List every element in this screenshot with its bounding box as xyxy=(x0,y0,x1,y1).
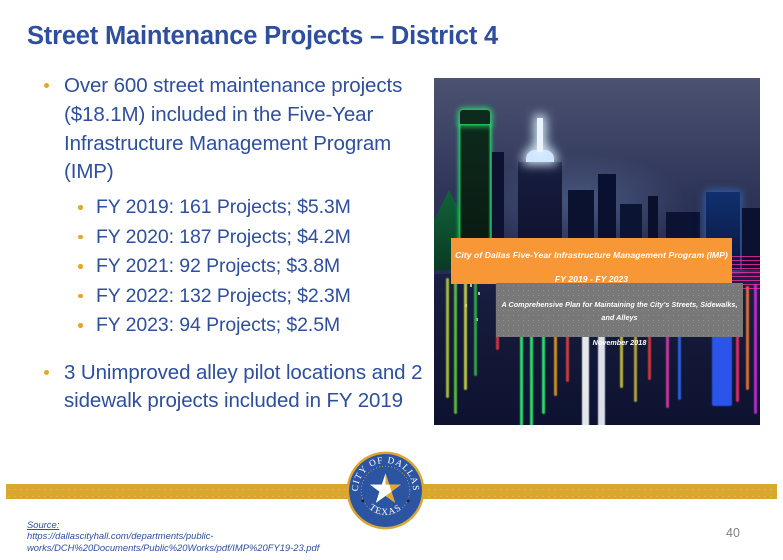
window-light xyxy=(478,292,480,295)
list-item: FY 2020: 187 Projects; $4.2M xyxy=(34,223,429,253)
gray-banner-line2: November 2018 xyxy=(496,336,743,349)
orange-caption-banner: City of Dallas Five-Year Infrastructure … xyxy=(451,238,732,284)
bullet-dot-icon xyxy=(78,235,83,240)
fiscal-year-text: FY 2021: 92 Projects; $3.8M xyxy=(96,255,340,277)
bullet-dot-icon xyxy=(44,83,49,88)
source-label: Source: xyxy=(27,519,59,530)
fiscal-year-text: FY 2019: 161 Projects; $5.3M xyxy=(96,196,351,218)
reflection-streak xyxy=(754,284,757,414)
source-note: Source: https://dallascityhall.com/depar… xyxy=(27,519,407,553)
bullet-dot-icon xyxy=(44,370,49,375)
building-bofa-crown xyxy=(460,110,490,124)
list-item: FY 2019: 161 Projects; $5.3M xyxy=(34,193,429,223)
source-url[interactable]: https://dallascityhall.com/departments/p… xyxy=(27,530,407,553)
gray-banner-line1: A Comprehensive Plan for Maintaining the… xyxy=(496,298,743,324)
bullet-item-intro: Over 600 street maintenance projects ($1… xyxy=(34,72,429,187)
fiscal-year-text: FY 2020: 187 Projects; $4.2M xyxy=(96,226,351,248)
slide-canvas: Street Maintenance Projects – District 4… xyxy=(0,0,783,560)
page-number: 40 xyxy=(726,526,740,540)
bullet-dot-icon xyxy=(78,205,83,210)
fiscal-year-list: FY 2019: 161 Projects; $5.3M FY 2020: 18… xyxy=(34,193,429,341)
list-item: FY 2023: 94 Projects; $2.5M xyxy=(34,311,429,341)
bullet-dot-icon xyxy=(78,323,83,328)
fiscal-year-text: FY 2022: 132 Projects; $2.3M xyxy=(96,285,351,307)
gray-caption-banner: A Comprehensive Plan for Maintaining the… xyxy=(496,283,743,337)
page-title: Street Maintenance Projects – District 4 xyxy=(27,22,727,51)
orange-banner-line1: City of Dallas Five-Year Infrastructure … xyxy=(451,248,732,263)
body-content: Over 600 street maintenance projects ($1… xyxy=(34,72,429,416)
reflection-streak xyxy=(454,278,457,414)
reflection-streak xyxy=(464,278,467,390)
list-item: FY 2022: 132 Projects; $2.3M xyxy=(34,282,429,312)
bullet-dot-icon xyxy=(78,294,83,299)
bullet-intro-text: Over 600 street maintenance projects ($1… xyxy=(64,74,402,183)
bullet-item-alley: 3 Unimproved alley pilot locations and 2… xyxy=(34,359,429,417)
bullet-alley-text: 3 Unimproved alley pilot locations and 2… xyxy=(64,361,422,413)
bullet-dot-icon xyxy=(78,264,83,269)
list-item: FY 2021: 92 Projects; $3.8M xyxy=(34,252,429,282)
reflection-streak xyxy=(446,278,449,398)
reflection-streak xyxy=(746,286,749,390)
fiscal-year-text: FY 2023: 94 Projects; $2.5M xyxy=(96,314,340,336)
building-spire xyxy=(537,118,543,152)
reflection-streak xyxy=(474,280,477,376)
